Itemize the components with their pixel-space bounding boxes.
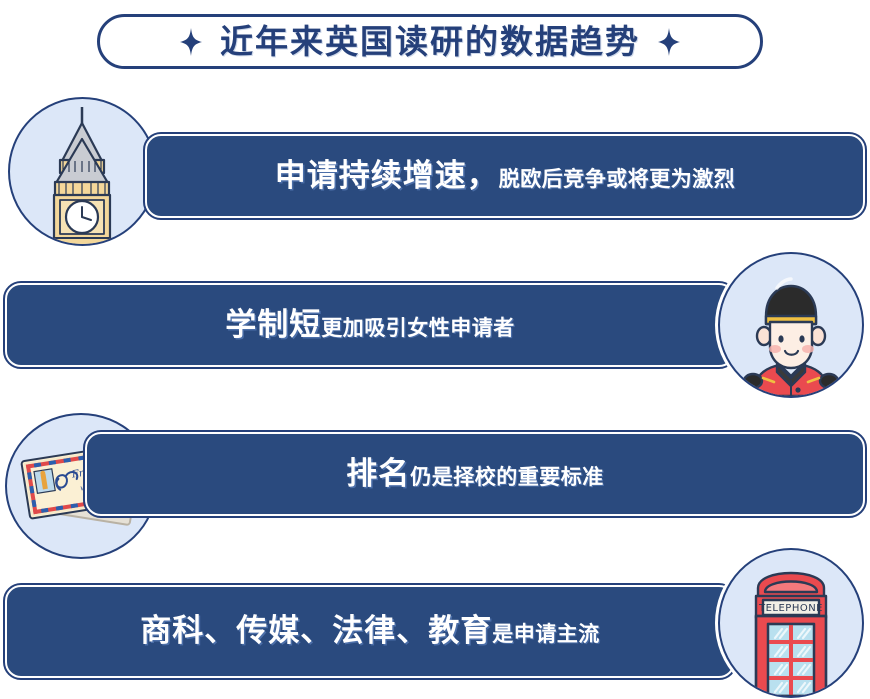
infographic-canvas: 近年来英国读研的数据趋势 xyxy=(0,0,870,699)
row-2-headline: 学制短 xyxy=(225,307,321,343)
row-3-subline: 仍是择校的重要标准 xyxy=(410,465,604,489)
row-2-text: 学制短更加吸引女性申请者 xyxy=(225,310,515,341)
row-1-text: 申请持续增速，脱欧后竞争或将更为激烈 xyxy=(275,161,736,192)
row-1-headline: 申请持续增速， xyxy=(275,158,499,194)
red-telephone-box-icon: TELEPHONE xyxy=(720,550,862,696)
sparkle-diamond-icon xyxy=(658,28,680,56)
row-4-subline: 是申请主流 xyxy=(492,622,600,646)
row-3-headline: 排名 xyxy=(346,456,410,492)
telephone-sign-label: TELEPHONE xyxy=(758,603,823,614)
royal-guard-icon xyxy=(720,254,862,396)
big-ben-clock-tower-icon xyxy=(10,99,155,244)
sparkle-diamond-icon xyxy=(180,28,202,56)
icon-bubble-royal-guard xyxy=(718,252,864,398)
row-4-text: 商科、传媒、法律、教育是申请主流 xyxy=(140,616,600,647)
page-title-pill: 近年来英国读研的数据趋势 xyxy=(97,14,763,69)
row-3-text: 排名仍是择校的重要标准 xyxy=(346,459,604,490)
row-2-bar: 学制短更加吸引女性申请者 xyxy=(5,283,735,367)
row-3-bar: 排名仍是择校的重要标准 xyxy=(85,432,865,516)
icon-bubble-big-ben xyxy=(8,97,157,246)
row-1-bar: 申请持续增速，脱欧后竞争或将更为激烈 xyxy=(145,134,865,218)
page-title: 近年来英国读研的数据趋势 xyxy=(220,25,640,58)
row-4-bar: 商科、传媒、法律、教育是申请主流 xyxy=(5,585,735,678)
row-2-subline: 更加吸引女性申请者 xyxy=(321,316,515,340)
row-1-subline: 脱欧后竞争或将更为激烈 xyxy=(499,167,736,191)
row-4-headline: 商科、传媒、法律、教育 xyxy=(140,613,492,649)
icon-bubble-telephone-box: TELEPHONE xyxy=(718,548,864,698)
